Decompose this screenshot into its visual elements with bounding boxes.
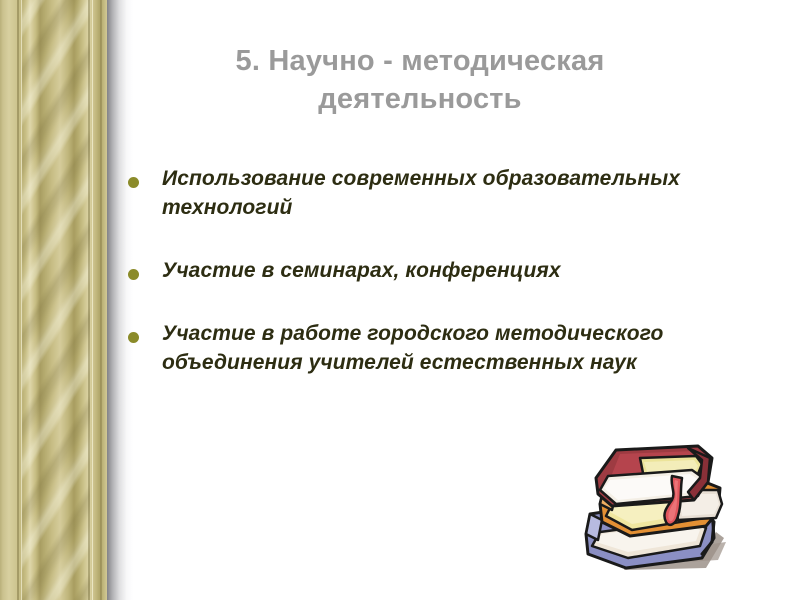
- bullet-dot-icon: [128, 269, 139, 280]
- bullet-text-1: Использование современных образовательны…: [162, 164, 726, 222]
- slide-title: 5. Научно - методическая деятельность: [150, 42, 690, 118]
- rope-twist-pattern: [22, 0, 90, 600]
- bullet-dot-icon: [128, 332, 139, 343]
- bullet-item-3: Участие в работе городского методическог…: [126, 319, 726, 377]
- bottom-book-spine: [586, 514, 602, 540]
- stack-of-books-image: [566, 442, 756, 600]
- bullet-dot-icon: [128, 177, 139, 188]
- column-groove-left: [17, 0, 19, 600]
- slide: 5. Научно - методическая деятельность Ис…: [0, 0, 800, 600]
- bullet-item-1: Использование современных образовательны…: [126, 164, 726, 222]
- bullet-item-2: Участие в семинарах, конференциях: [126, 256, 726, 285]
- column-outer-edge: [100, 0, 102, 600]
- stack-of-books-illustration: [566, 442, 756, 600]
- bullet-text-2: Участие в семинарах, конференциях: [162, 256, 726, 285]
- gold-rope-column-border: [0, 0, 107, 600]
- bullet-text-3: Участие в работе городского методическог…: [162, 319, 726, 377]
- column-groove-right: [88, 0, 90, 600]
- column-highlight-right: [92, 0, 93, 600]
- bullet-list: Использование современных образовательны…: [126, 164, 726, 377]
